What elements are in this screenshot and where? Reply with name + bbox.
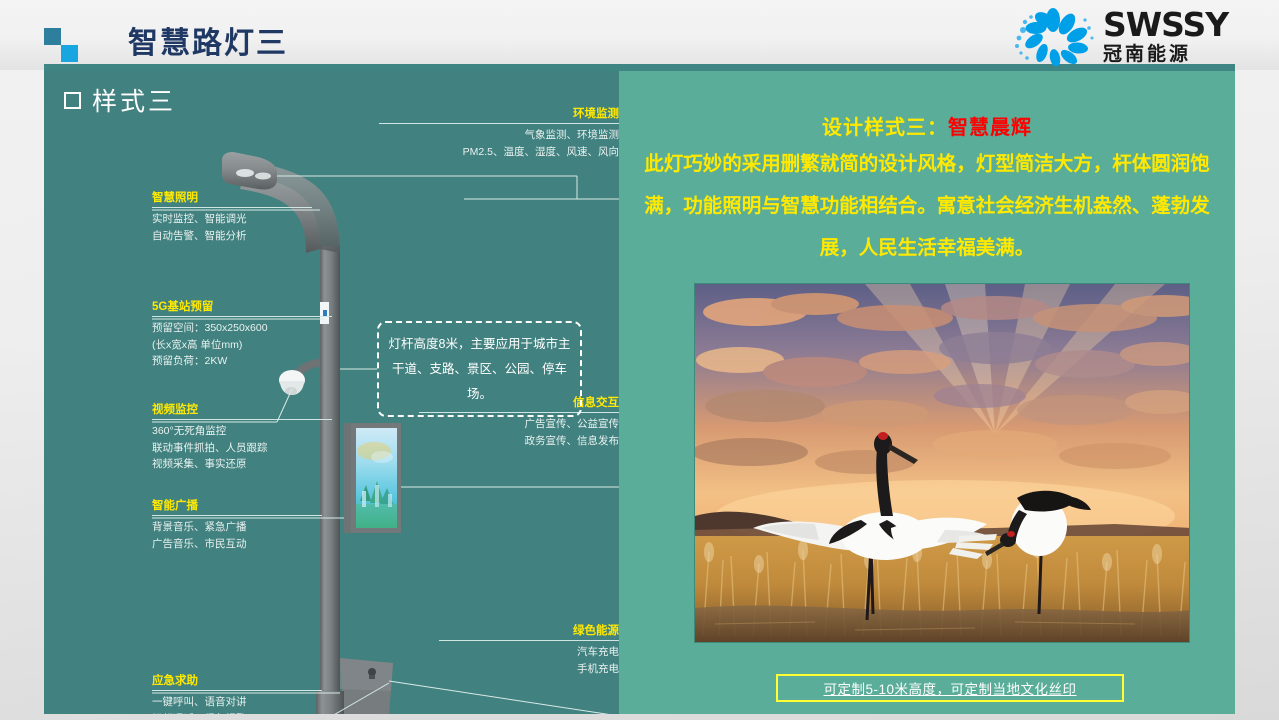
design-style-title-accent: 智慧晨辉 xyxy=(948,117,1032,139)
brand-subtitle: 冠南能源 xyxy=(1103,43,1228,67)
callout-line: 自动告警、智能分析 xyxy=(152,228,312,245)
page-header: 智慧路灯三 xyxy=(0,0,1279,70)
callout-rule xyxy=(152,690,322,691)
callout-title: 智能广播 xyxy=(152,499,322,513)
callout-line: 视频采集、事实还原 xyxy=(152,456,332,473)
callout-line: 手机充电 xyxy=(439,661,619,678)
callout-line: 背景音乐、紧急广播 xyxy=(152,519,322,536)
style-heading-label: 样式三 xyxy=(92,82,176,118)
callout-5g-base-station: 5G基站预留 预留空间：350x250x600 (长x宽x高 单位mm) 预留负… xyxy=(152,300,332,370)
callout-line: 预留负荷：2KW xyxy=(152,353,332,370)
swssy-flower-icon xyxy=(1007,8,1099,66)
callout-line: 实时监控、智能调光 xyxy=(152,211,312,228)
callout-smart-lighting: 智慧照明 实时监控、智能调光 自动告警、智能分析 xyxy=(152,191,312,244)
callout-line: 视频通话、紧急报警 xyxy=(152,711,322,715)
callout-rule xyxy=(152,316,332,317)
brand-name: SWSSY xyxy=(1103,8,1228,42)
callout-rule xyxy=(439,640,619,641)
callout-line: 广告音乐、市民互动 xyxy=(152,536,322,553)
height-application-note-text: 灯杆高度8米，主要应用于城市主干道、支路、景区、公园、停车场。 xyxy=(379,332,580,407)
callout-line: 360°无死角监控 xyxy=(152,423,332,440)
callout-rule xyxy=(152,207,312,208)
design-style-title-prefix: 设计样式三： xyxy=(822,117,948,139)
callout-green-energy: 绿色能源 汽车充电 手机充电 xyxy=(439,624,619,677)
callout-title: 绿色能源 xyxy=(439,624,619,638)
height-application-note: 灯杆高度8米，主要应用于城市主干道、支路、景区、公园、停车场。 xyxy=(377,321,582,417)
square-bullet-icon xyxy=(64,92,81,109)
callout-line: 一键呼叫、语音对讲 xyxy=(152,694,322,711)
callout-line: PM2.5、温度、湿度、风速、风向 xyxy=(379,144,619,161)
design-style-title: 设计样式三：智慧晨辉 xyxy=(619,111,1235,140)
callout-rule xyxy=(379,123,619,124)
crane-sunset-photo xyxy=(694,283,1190,643)
callout-emergency-help: 应急求助 一键呼叫、语音对讲 视频通话、紧急报警 xyxy=(152,674,322,714)
callout-line: 广告宣传、公益宣传 xyxy=(419,416,619,433)
callout-line: 汽车充电 xyxy=(439,644,619,661)
brand-logo: SWSSY 冠南能源 xyxy=(1007,6,1257,68)
customization-caption-box: 可定制5-10米高度，可定制当地文化丝印 xyxy=(776,674,1124,702)
callout-title: 环境监测 xyxy=(379,107,619,121)
style-heading: 样式三 xyxy=(64,82,176,118)
brand-text: SWSSY 冠南能源 xyxy=(1103,8,1228,67)
left-panel: 样式三 智慧照明 实时监控、智能调光 自动告警、智能分析 5G基站预留 预留空间… xyxy=(44,71,619,714)
callout-rule xyxy=(152,515,322,516)
right-panel: 设计样式三：智慧晨辉 此灯巧妙的采用删繁就简的设计风格，灯型简洁大方，杆体圆润饱… xyxy=(619,71,1235,714)
callout-environment-monitoring: 环境监测 气象监测、环境监测 PM2.5、温度、湿度、风速、风向 xyxy=(379,107,619,160)
callout-video-surveillance: 视频监控 360°无死角监控 联动事件抓拍、人员跟踪 视频采集、事实还原 xyxy=(152,403,332,473)
callout-line: 气象监测、环境监测 xyxy=(379,127,619,144)
callout-line: 联动事件抓拍、人员跟踪 xyxy=(152,440,332,457)
customization-caption-text: 可定制5-10米高度，可定制当地文化丝印 xyxy=(823,678,1076,698)
page-title: 智慧路灯三 xyxy=(128,18,288,62)
design-description: 此灯巧妙的采用删繁就简的设计风格，灯型简洁大方，杆体圆润饱满，功能照明与智慧功能… xyxy=(641,143,1213,269)
logo-square-light-icon xyxy=(61,45,78,62)
callout-title: 应急求助 xyxy=(152,674,322,688)
callout-title: 视频监控 xyxy=(152,403,332,417)
callout-line: 预留空间：350x250x600 xyxy=(152,320,332,337)
callout-line: 政务宣传、信息发布 xyxy=(419,433,619,450)
callout-smart-broadcast: 智能广播 背景音乐、紧急广播 广告音乐、市民互动 xyxy=(152,499,322,552)
callout-line: (长x宽x高 单位mm) xyxy=(152,337,332,354)
callout-rule xyxy=(152,419,332,420)
logo-square-dark-icon xyxy=(44,28,61,45)
logo-squares-icon xyxy=(44,28,90,62)
callout-title: 智慧照明 xyxy=(152,191,312,205)
callout-title: 5G基站预留 xyxy=(152,300,332,314)
